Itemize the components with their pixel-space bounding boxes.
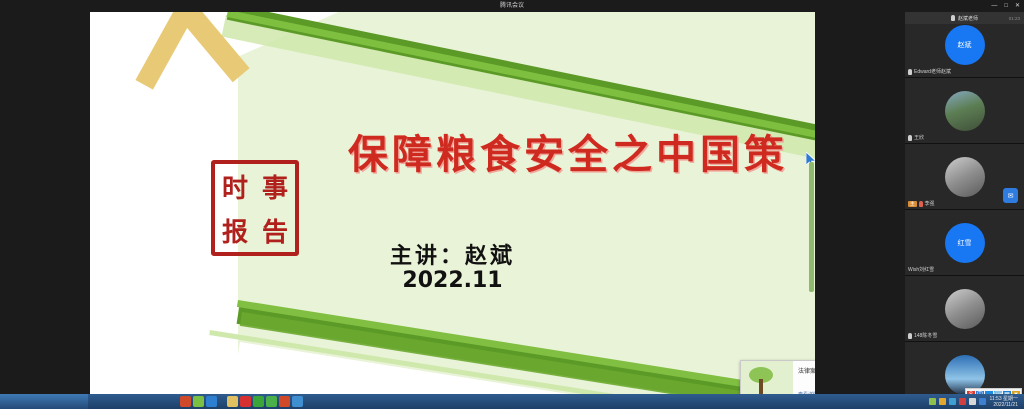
participant-name: 李强 [925, 200, 935, 207]
toast-title: 法律案件一等奖ppt [798, 366, 815, 375]
participant-rail[interactable]: 赵斌老师 01:23 赵斌 Edward老师赵斌 王欣 主 李强 ✉ [905, 12, 1024, 409]
participant-tile[interactable]: 王欣 [905, 78, 1024, 144]
tray-icon[interactable] [949, 398, 956, 405]
taskbar-clock[interactable]: 11:53 星期一 2022/11/21 [989, 396, 1018, 408]
seal-char-2: 事 [255, 164, 295, 208]
taskbar-icon[interactable] [292, 396, 303, 407]
participant-tile[interactable]: 148陈冬雪 [905, 276, 1024, 342]
toast-thumbnail [741, 361, 793, 394]
tray-icon[interactable] [939, 398, 946, 405]
windows-taskbar[interactable]: 11:53 星期一 2022/11/21 [0, 394, 1024, 409]
slide-title: 保障粮食安全之中国策 [348, 122, 815, 180]
taskbar-icon[interactable] [180, 396, 191, 407]
window-controls[interactable]: — □ ✕ [991, 0, 1020, 12]
avatar [945, 289, 985, 329]
meeting-timer: 01:23 [1009, 16, 1020, 21]
system-tray[interactable]: 11:53 星期一 2022/11/21 [929, 396, 1024, 408]
active-speaker-name: 赵斌老师 [958, 15, 978, 22]
tray-icon[interactable] [929, 398, 936, 405]
avatar [945, 91, 985, 131]
avatar: 赵斌 [945, 25, 985, 65]
presentation-slide: 时 事 报 告 保障粮食安全之中国策 主讲：赵斌 2022.11 [90, 12, 815, 394]
window-title-bar: 腾讯会议 — □ ✕ [0, 0, 1024, 12]
mic-icon [908, 135, 912, 141]
tray-icon[interactable] [969, 398, 976, 405]
start-button[interactable] [0, 394, 88, 409]
download-toast[interactable]: 法律案件一等奖ppt 查看详情~ 下载已完成 ✕ [740, 360, 815, 394]
tray-icon[interactable] [979, 398, 986, 405]
taskbar-icon[interactable] [266, 396, 277, 407]
seal-char-1: 时 [215, 164, 255, 208]
participant-name: 王欣 [914, 134, 924, 141]
maximize-icon[interactable]: □ [1004, 0, 1008, 12]
participant-tile[interactable]: 主 李强 ✉ [905, 144, 1024, 210]
participant-name-label: Edward老师赵斌 [908, 68, 951, 75]
participant-name-label: 148陈冬雪 [908, 332, 937, 339]
avatar [945, 157, 985, 197]
minimize-icon[interactable]: — [991, 0, 997, 12]
mic-muted-icon [919, 201, 923, 207]
participant-name-label: 王欣 [908, 134, 924, 141]
mic-icon [908, 69, 912, 75]
participant-name: Edward老师赵斌 [914, 68, 951, 75]
taskbar-icon[interactable] [193, 396, 204, 407]
clock-time: 11:53 星期一 [989, 396, 1018, 402]
taskbar-icon[interactable] [227, 396, 238, 407]
close-icon[interactable]: ✕ [1015, 0, 1020, 12]
active-speaker-header: 赵斌老师 01:23 [905, 12, 1024, 24]
window-title: 腾讯会议 [500, 3, 524, 9]
taskbar-icon[interactable] [206, 396, 217, 407]
clock-date: 2022/11/21 [989, 402, 1018, 408]
slide-presenter: 主讲：赵斌 [90, 238, 815, 270]
participant-name-label: Wish刘红雪 [908, 266, 934, 273]
shared-screen-stage[interactable]: 时 事 报 告 保障粮食安全之中国策 主讲：赵斌 2022.11 法律案件一等奖… [90, 12, 815, 394]
mic-icon [951, 15, 955, 21]
toast-body: 法律案件一等奖ppt 查看详情~ 下载已完成 ✕ [793, 361, 815, 394]
slide-date: 2022.11 [90, 268, 815, 293]
mic-icon [908, 333, 912, 339]
host-badge: 主 [908, 201, 917, 207]
participant-name: 148陈冬雪 [914, 332, 937, 339]
participant-name: Wish刘红雪 [908, 266, 934, 273]
avatar: 红雪 [945, 223, 985, 263]
meeting-app-window: 腾讯会议 — □ ✕ 时 事 报 告 保障粮食安全 [0, 0, 1024, 409]
chat-icon[interactable]: ✉ [1003, 188, 1018, 203]
taskbar-icon[interactable] [240, 396, 251, 407]
slide-scrollbar-thumb[interactable] [809, 162, 814, 292]
participant-name-label: 主 李强 [908, 200, 935, 207]
tray-icon[interactable] [959, 398, 966, 405]
taskbar-icon[interactable] [279, 396, 290, 407]
participant-tile[interactable]: 红雪 Wish刘红雪 [905, 210, 1024, 276]
taskbar-icon[interactable] [253, 396, 264, 407]
participant-tile[interactable]: 赵斌老师 01:23 赵斌 Edward老师赵斌 [905, 12, 1024, 78]
taskbar-items[interactable] [88, 396, 303, 407]
